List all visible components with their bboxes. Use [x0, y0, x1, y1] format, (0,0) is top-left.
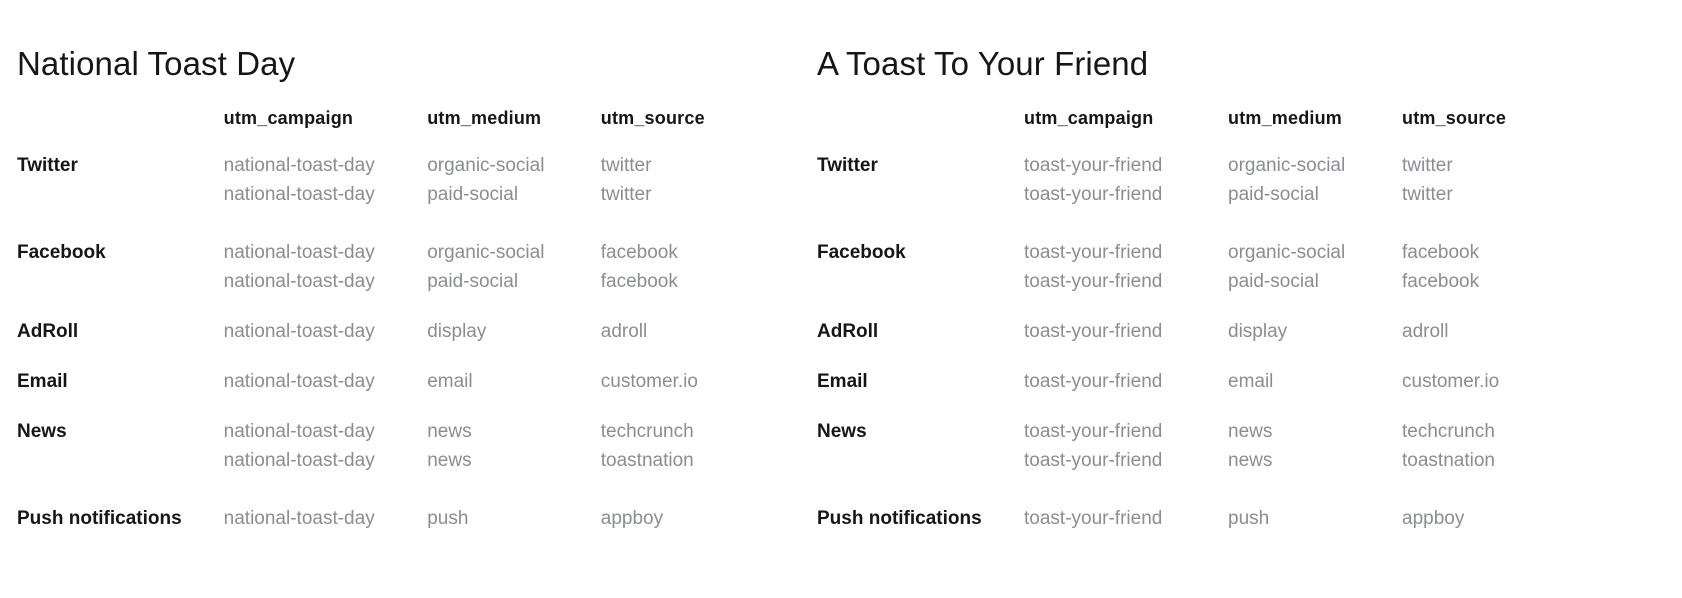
cell-utm-medium: display	[427, 317, 601, 346]
cell-utm-campaign: toast-your-friend toast-your-friend	[1024, 417, 1228, 475]
value-line: toast-your-friend	[1024, 180, 1228, 209]
campaign-panel-national-toast-day: National Toast Day utm_campaign utm_medi…	[0, 0, 800, 598]
page-title: A Toast To Your Friend	[817, 45, 1148, 83]
row-spacer	[817, 209, 1602, 238]
cell-utm-medium: organic-social paid-social	[427, 238, 601, 296]
value-line: national-toast-day	[224, 504, 428, 533]
value-line: twitter	[1402, 180, 1602, 209]
cell-utm-source: customer.io	[601, 367, 800, 396]
row-label: Twitter	[817, 151, 1024, 209]
value-line: techcrunch	[601, 417, 800, 446]
value-line: national-toast-day	[224, 151, 428, 180]
value-line: techcrunch	[1402, 417, 1602, 446]
value-line: news	[1228, 446, 1402, 475]
row-spacer	[817, 346, 1602, 367]
row-label: Twitter	[17, 151, 224, 209]
table-row: Email toast-your-friend email customer.i…	[817, 367, 1602, 396]
value-line: twitter	[1402, 151, 1602, 180]
value-line: news	[427, 446, 601, 475]
value-line: national-toast-day	[224, 180, 428, 209]
cell-utm-source: twitter twitter	[601, 151, 800, 209]
row-spacer	[17, 475, 800, 504]
cell-utm-medium: push	[427, 504, 601, 533]
value-line: national-toast-day	[224, 367, 428, 396]
table-row: Push notifications toast-your-friend pus…	[817, 504, 1602, 533]
cell-utm-source: appboy	[601, 504, 800, 533]
cell-utm-source: techcrunch toastnation	[601, 417, 800, 475]
value-line: customer.io	[601, 367, 800, 396]
value-line: toast-your-friend	[1024, 151, 1228, 180]
value-line: push	[1228, 504, 1402, 533]
value-line: appboy	[1402, 504, 1602, 533]
row-spacer	[17, 209, 800, 238]
value-line: twitter	[601, 151, 800, 180]
value-line: facebook	[601, 238, 800, 267]
value-line: toastnation	[1402, 446, 1602, 475]
value-line: toast-your-friend	[1024, 267, 1228, 296]
campaign-panel-a-toast-to-your-friend: A Toast To Your Friend utm_campaign utm_…	[800, 0, 1682, 598]
row-spacer	[17, 396, 800, 417]
cell-utm-campaign: national-toast-day national-toast-day	[224, 417, 428, 475]
cell-utm-source: twitter twitter	[1402, 151, 1602, 209]
value-line: twitter	[601, 180, 800, 209]
row-label: News	[17, 417, 224, 475]
row-label: Email	[17, 367, 224, 396]
row-label: News	[817, 417, 1024, 475]
value-line: email	[427, 367, 601, 396]
value-line: push	[427, 504, 601, 533]
value-line: organic-social	[1228, 151, 1402, 180]
column-header-channel	[817, 104, 1024, 151]
table-body: Twitter toast-your-friend toast-your-fri…	[817, 151, 1602, 533]
cell-utm-source: techcrunch toastnation	[1402, 417, 1602, 475]
page-title: National Toast Day	[17, 45, 295, 83]
row-spacer	[817, 296, 1602, 317]
value-line: adroll	[601, 317, 800, 346]
value-line: customer.io	[1402, 367, 1602, 396]
cell-utm-medium: organic-social paid-social	[427, 151, 601, 209]
cell-utm-medium: news news	[427, 417, 601, 475]
table-row: News toast-your-friend toast-your-friend…	[817, 417, 1602, 475]
value-line: paid-social	[1228, 180, 1402, 209]
value-line: news	[1228, 417, 1402, 446]
value-line: organic-social	[427, 151, 601, 180]
row-label: Facebook	[817, 238, 1024, 296]
header-row: utm_campaign utm_medium utm_source	[17, 104, 800, 151]
utm-table: utm_campaign utm_medium utm_source Twitt…	[17, 104, 800, 533]
value-line: toast-your-friend	[1024, 317, 1228, 346]
table-row: Email national-toast-day email customer.…	[17, 367, 800, 396]
column-header-utm-medium: utm_medium	[427, 104, 601, 151]
column-header-channel	[17, 104, 224, 151]
cell-utm-source: customer.io	[1402, 367, 1602, 396]
row-spacer	[817, 475, 1602, 504]
utm-tables-board: National Toast Day utm_campaign utm_medi…	[0, 0, 1682, 598]
value-line: toast-your-friend	[1024, 504, 1228, 533]
value-line: facebook	[1402, 267, 1602, 296]
utm-table: utm_campaign utm_medium utm_source Twitt…	[817, 104, 1602, 533]
cell-utm-medium: organic-social paid-social	[1228, 151, 1402, 209]
value-line: national-toast-day	[224, 317, 428, 346]
row-label: Push notifications	[817, 504, 1024, 533]
table-row: Facebook toast-your-friend toast-your-fr…	[817, 238, 1602, 296]
table-header: utm_campaign utm_medium utm_source	[817, 104, 1602, 151]
value-line: toastnation	[601, 446, 800, 475]
row-spacer	[817, 396, 1602, 417]
header-row: utm_campaign utm_medium utm_source	[817, 104, 1602, 151]
row-label: AdRoll	[17, 317, 224, 346]
cell-utm-source: facebook facebook	[601, 238, 800, 296]
cell-utm-campaign: national-toast-day	[224, 504, 428, 533]
value-line: display	[427, 317, 601, 346]
row-spacer	[17, 296, 800, 317]
cell-utm-medium: news news	[1228, 417, 1402, 475]
value-line: national-toast-day	[224, 417, 428, 446]
cell-utm-campaign: national-toast-day national-toast-day	[224, 151, 428, 209]
table-row: AdRoll national-toast-day display adroll	[17, 317, 800, 346]
value-line: national-toast-day	[224, 238, 428, 267]
column-header-utm-campaign: utm_campaign	[1024, 104, 1228, 151]
value-line: paid-social	[427, 180, 601, 209]
value-line: organic-social	[427, 238, 601, 267]
value-line: facebook	[601, 267, 800, 296]
value-line: toast-your-friend	[1024, 417, 1228, 446]
cell-utm-medium: email	[1228, 367, 1402, 396]
value-line: national-toast-day	[224, 267, 428, 296]
table-row: Facebook national-toast-day national-toa…	[17, 238, 800, 296]
cell-utm-campaign: national-toast-day	[224, 317, 428, 346]
table-row: Twitter toast-your-friend toast-your-fri…	[817, 151, 1602, 209]
cell-utm-campaign: toast-your-friend	[1024, 317, 1228, 346]
value-line: email	[1228, 367, 1402, 396]
value-line: toast-your-friend	[1024, 446, 1228, 475]
column-header-utm-source: utm_source	[1402, 104, 1602, 151]
cell-utm-medium: push	[1228, 504, 1402, 533]
column-header-utm-source: utm_source	[601, 104, 800, 151]
table-row: News national-toast-day national-toast-d…	[17, 417, 800, 475]
column-header-utm-medium: utm_medium	[1228, 104, 1402, 151]
value-line: paid-social	[1228, 267, 1402, 296]
cell-utm-source: facebook facebook	[1402, 238, 1602, 296]
cell-utm-medium: email	[427, 367, 601, 396]
row-label: Facebook	[17, 238, 224, 296]
value-line: organic-social	[1228, 238, 1402, 267]
value-line: display	[1228, 317, 1402, 346]
column-header-utm-campaign: utm_campaign	[224, 104, 428, 151]
value-line: adroll	[1402, 317, 1602, 346]
cell-utm-campaign: toast-your-friend	[1024, 504, 1228, 533]
cell-utm-campaign: national-toast-day	[224, 367, 428, 396]
row-label: AdRoll	[817, 317, 1024, 346]
value-line: news	[427, 417, 601, 446]
cell-utm-source: adroll	[1402, 317, 1602, 346]
row-label: Email	[817, 367, 1024, 396]
table-row: Twitter national-toast-day national-toas…	[17, 151, 800, 209]
table-header: utm_campaign utm_medium utm_source	[17, 104, 800, 151]
table-body: Twitter national-toast-day national-toas…	[17, 151, 800, 533]
value-line: facebook	[1402, 238, 1602, 267]
table-row: AdRoll toast-your-friend display adroll	[817, 317, 1602, 346]
table-row: Push notifications national-toast-day pu…	[17, 504, 800, 533]
row-label: Push notifications	[17, 504, 224, 533]
cell-utm-source: appboy	[1402, 504, 1602, 533]
row-spacer	[17, 346, 800, 367]
value-line: toast-your-friend	[1024, 238, 1228, 267]
cell-utm-source: adroll	[601, 317, 800, 346]
cell-utm-campaign: toast-your-friend	[1024, 367, 1228, 396]
cell-utm-campaign: toast-your-friend toast-your-friend	[1024, 151, 1228, 209]
value-line: national-toast-day	[224, 446, 428, 475]
value-line: appboy	[601, 504, 800, 533]
value-line: paid-social	[427, 267, 601, 296]
cell-utm-campaign: national-toast-day national-toast-day	[224, 238, 428, 296]
cell-utm-medium: organic-social paid-social	[1228, 238, 1402, 296]
cell-utm-medium: display	[1228, 317, 1402, 346]
value-line: toast-your-friend	[1024, 367, 1228, 396]
cell-utm-campaign: toast-your-friend toast-your-friend	[1024, 238, 1228, 296]
